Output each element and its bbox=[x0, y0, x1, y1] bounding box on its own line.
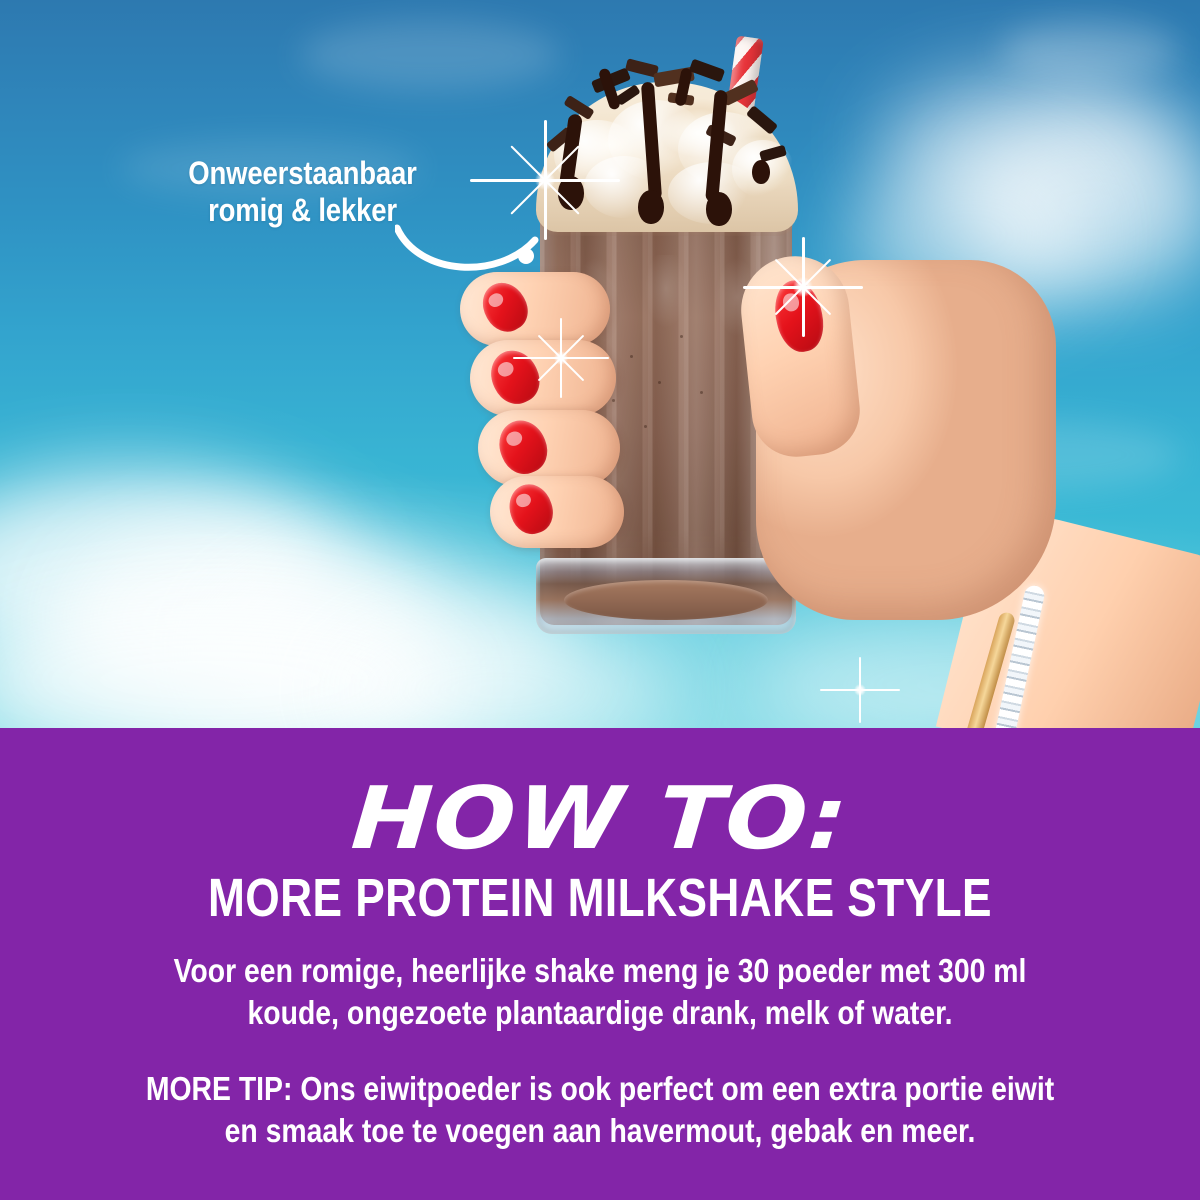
panel-tip-text: MORE TIP: Ons eiwitpoeder is ook perfect… bbox=[136, 1068, 1065, 1152]
glass-base-inner bbox=[564, 580, 768, 620]
chocolate-drip bbox=[638, 190, 664, 224]
chocolate-drip bbox=[752, 160, 770, 184]
panel-headline: HOW TO: bbox=[0, 778, 1200, 861]
panel-body-text: Voor een romige, heerlijke shake meng je… bbox=[161, 950, 1038, 1034]
chocolate-drip bbox=[558, 176, 584, 210]
chocolate-drip bbox=[706, 192, 732, 226]
howto-panel: HOW TO: MORE PROTEIN MILKSHAKE STYLE Voo… bbox=[0, 728, 1200, 1200]
panel-subheadline: MORE PROTEIN MILKSHAKE STYLE bbox=[108, 871, 1092, 925]
ad-creative: Onweerstaanbaar romig & lekker bbox=[0, 0, 1200, 1200]
milkshake-hand-composite bbox=[440, 10, 1180, 740]
glass-base bbox=[536, 558, 796, 634]
